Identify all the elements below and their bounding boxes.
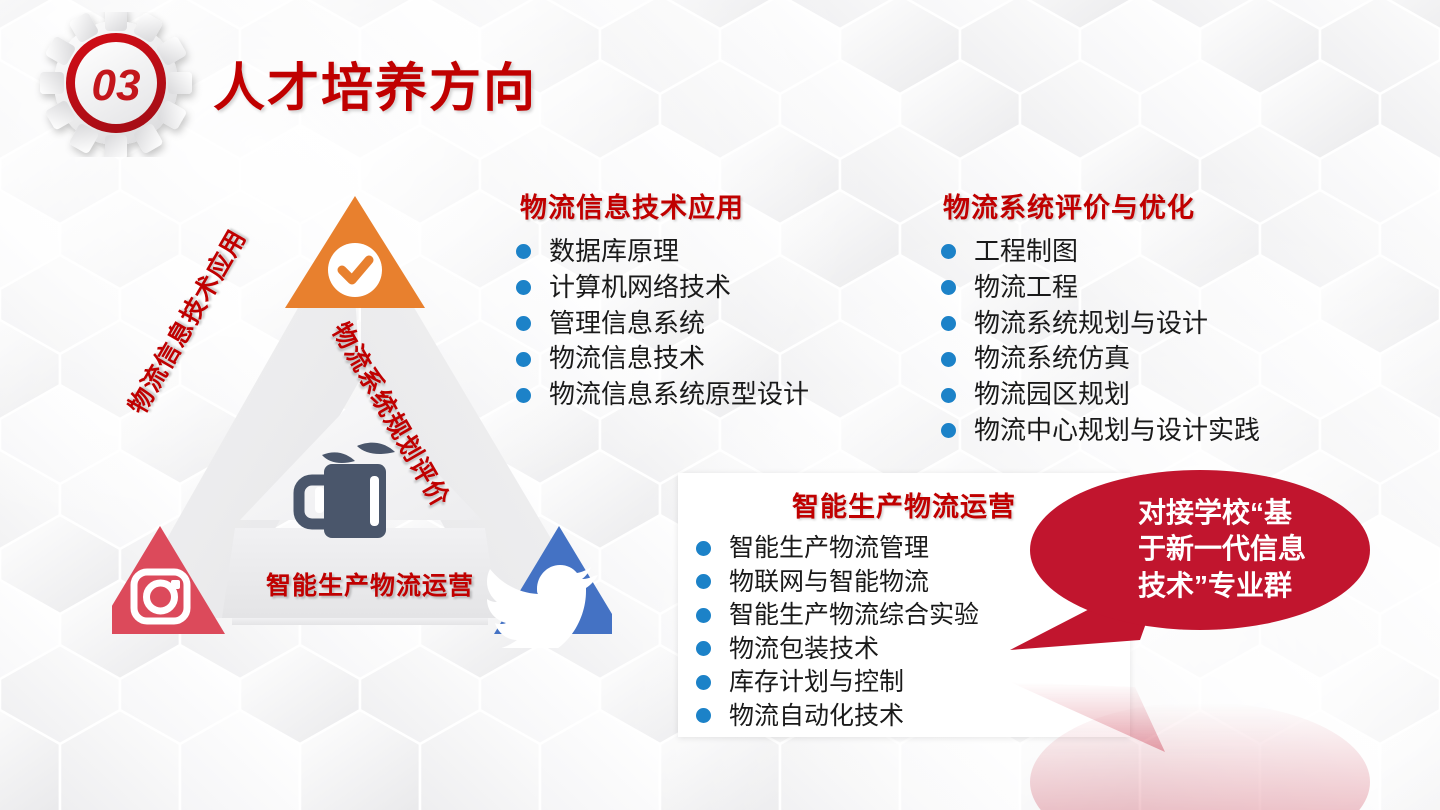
- list-item: 物流信息技术: [516, 342, 809, 376]
- page-title: 人才培养方向: [213, 46, 537, 121]
- course-label: 工程制图: [974, 235, 1078, 269]
- course-label: 物流园区规划: [974, 378, 1130, 412]
- course-label: 物联网与智能物流: [729, 566, 929, 599]
- callout-line-2: 于新一代信息: [1138, 531, 1328, 567]
- gear-badge: 03: [28, 12, 208, 157]
- list-item: 物流园区规划: [941, 378, 1260, 412]
- bullet-icon: [941, 388, 956, 403]
- course-group-logistics-information-technology: 物流信息技术应用 数据库原理 计算机网络技术 管理信息系统 物流信息技术 物流信…: [516, 186, 809, 414]
- slide-canvas: 03 人才培养方向: [0, 0, 1440, 810]
- list-item: 物流系统仿真: [941, 342, 1260, 376]
- triangle-segment-bottom: [232, 618, 488, 625]
- callout-text: 对接学校“基 于新一代信息 技术”专业群: [1138, 495, 1328, 604]
- course-label: 智能生产物流综合实验: [729, 599, 979, 632]
- course-group-logistics-system-evaluation: 物流系统评价与优化 工程制图 物流工程 物流系统规划与设计 物流系统仿真 物流园…: [941, 186, 1260, 450]
- course-label: 库存计划与控制: [729, 666, 904, 699]
- list-item: 管理信息系统: [516, 307, 809, 341]
- course-label: 数据库原理: [549, 235, 679, 269]
- course-label: 物流系统仿真: [974, 342, 1130, 376]
- bullet-icon: [941, 244, 956, 259]
- course-label: 物流信息系统原型设计: [549, 378, 809, 412]
- check-circle-icon: [328, 243, 382, 297]
- course-group-title: 物流信息技术应用: [520, 186, 809, 225]
- triangle-label-base: 智能生产物流运营: [240, 566, 500, 602]
- callout-line-3: 技术”专业群: [1138, 568, 1328, 604]
- bullet-icon: [696, 708, 711, 723]
- bullet-icon: [696, 641, 711, 656]
- course-label: 物流自动化技术: [729, 700, 904, 733]
- course-label: 计算机网络技术: [549, 271, 731, 305]
- course-list: 数据库原理 计算机网络技术 管理信息系统 物流信息技术 物流信息系统原型设计: [516, 235, 809, 412]
- bullet-icon: [516, 316, 531, 331]
- bullet-icon: [696, 541, 711, 556]
- slide-header: 03 人才培养方向: [0, 0, 760, 160]
- list-item: 物流信息系统原型设计: [516, 378, 809, 412]
- list-item: 物流工程: [941, 271, 1260, 305]
- course-label: 管理信息系统: [549, 307, 705, 341]
- bullet-icon: [516, 352, 531, 367]
- bullet-icon: [696, 675, 711, 690]
- bullet-icon: [941, 352, 956, 367]
- list-item: 工程制图: [941, 235, 1260, 269]
- corner-top: [285, 196, 425, 308]
- callout-line-1: 对接学校“基: [1138, 495, 1328, 531]
- course-label: 物流信息技术: [549, 342, 705, 376]
- course-label: 物流工程: [974, 271, 1078, 305]
- list-item: 物流系统规划与设计: [941, 307, 1260, 341]
- bullet-icon: [941, 316, 956, 331]
- course-group-title: 物流系统评价与优化: [943, 186, 1260, 225]
- bullet-icon: [941, 423, 956, 438]
- bullet-icon: [516, 244, 531, 259]
- bullet-icon: [941, 280, 956, 295]
- gear-icon: 03: [28, 12, 208, 157]
- bullet-icon: [516, 388, 531, 403]
- bullet-icon: [696, 574, 711, 589]
- list-item: 计算机网络技术: [516, 271, 809, 305]
- bullet-icon: [516, 280, 531, 295]
- bullet-icon: [696, 608, 711, 623]
- course-list: 工程制图 物流工程 物流系统规划与设计 物流系统仿真 物流园区规划 物流中心规划…: [941, 235, 1260, 448]
- course-label: 物流包装技术: [729, 633, 879, 666]
- gear-step-number: 03: [92, 61, 141, 110]
- course-label: 智能生产物流管理: [729, 532, 929, 565]
- course-label: 物流系统规划与设计: [974, 307, 1208, 341]
- list-item: 数据库原理: [516, 235, 809, 269]
